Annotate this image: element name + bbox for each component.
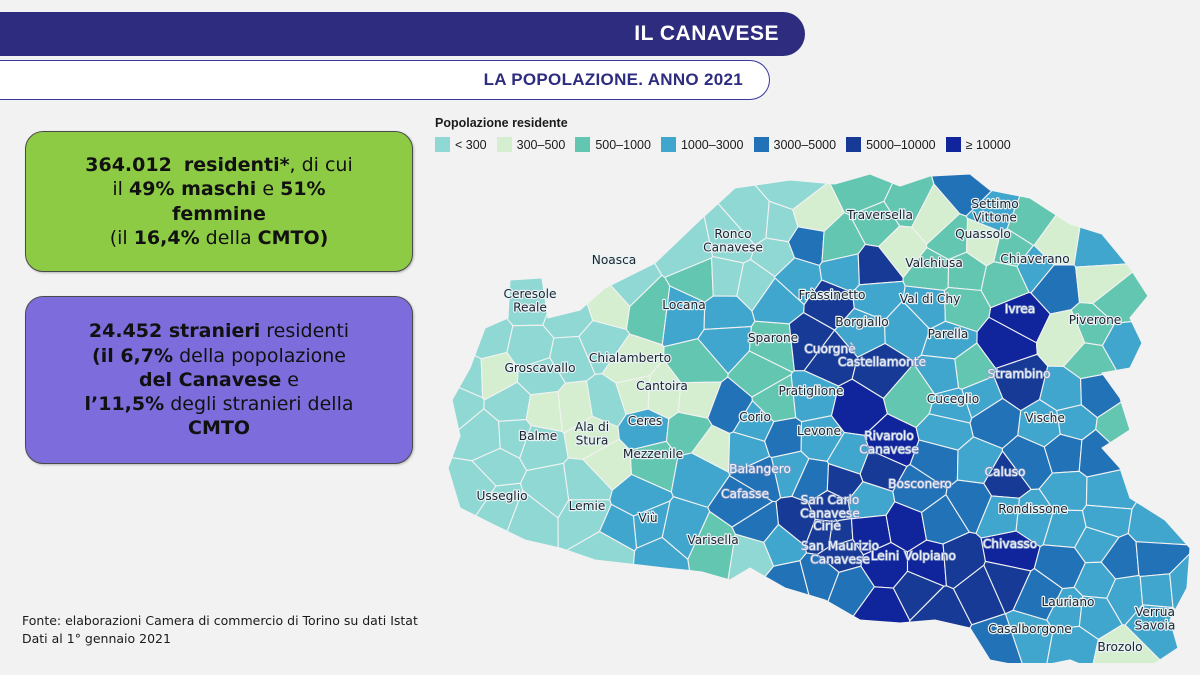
municipality-shapes — [448, 174, 1190, 663]
legend-item[interactable]: ≥ 10000 — [946, 137, 1011, 152]
legend-item[interactable]: < 300 — [435, 137, 487, 152]
legend-item[interactable]: 5000–10000 — [846, 137, 936, 152]
municipality-label: VerruaSavoia — [1135, 605, 1176, 633]
residenti-cmto: CMTO) — [258, 227, 329, 249]
header-bar: IL CANAVESE — [0, 12, 805, 56]
stranieri-line1-rest: residenti — [260, 320, 349, 342]
stranieri-cmto-pct: l’11,5% — [85, 393, 165, 415]
municipality-label: Quassolo — [955, 227, 1011, 241]
municipality-label: Fràssinetto — [799, 288, 866, 302]
municipality-label: Piverone — [1069, 313, 1122, 327]
municipality-label: Levone — [797, 424, 841, 438]
legend-swatch — [846, 137, 861, 152]
residenti-line2-mid: e — [256, 178, 280, 200]
residenti-maschi: 49% maschi — [129, 178, 256, 200]
legend-swatch — [575, 137, 590, 152]
stranieri-canavese: del Canavese — [139, 369, 281, 391]
legend-swatch — [754, 137, 769, 152]
municipality-label: Valchiusa — [905, 256, 963, 270]
municipality-label: Cantoira — [636, 379, 688, 393]
municipality-label: Parella — [928, 327, 969, 341]
legend-item[interactable]: 1000–3000 — [661, 137, 744, 152]
legend-swatch — [661, 137, 676, 152]
municipality-label: RivaroloCanavese — [859, 429, 919, 457]
residenti-number: 364.012 — [85, 154, 172, 176]
municipality-label: Castellamonte — [838, 355, 926, 369]
municipality-label: SettimoVittone — [971, 197, 1019, 225]
municipality-label: Balangero — [729, 462, 791, 476]
municipality-label: Lauriano — [1041, 595, 1094, 609]
legend-swatch — [946, 137, 961, 152]
municipality-area[interactable] — [1086, 470, 1136, 509]
municipality-area[interactable] — [1140, 574, 1173, 608]
residenti-femmine: femmine — [172, 203, 266, 225]
callout-stranieri: 24.452 stranieri residenti (il 6,7% dell… — [25, 296, 413, 464]
legend-label: ≥ 10000 — [966, 138, 1011, 152]
residenti-femmine-pct: 51% — [280, 178, 325, 200]
municipality-label: San CarloCanavese — [800, 493, 860, 521]
legend-label: 3000–5000 — [774, 138, 837, 152]
residenti-line4-prefix: (il — [110, 227, 134, 249]
municipality-label: Ciriè — [813, 519, 841, 533]
municipality-label: Viù — [638, 511, 657, 525]
municipality-label: Brozolo — [1097, 640, 1142, 654]
stranieri-line4-rest: degli stranieri della — [164, 393, 353, 415]
page-title: IL CANAVESE — [634, 22, 779, 46]
municipality-label: Borgiallo — [835, 315, 888, 329]
stranieri-cmto: CMTO — [188, 417, 250, 439]
stranieri-number: 24.452 stranieri — [89, 320, 260, 342]
municipality-label: Ceres — [628, 414, 663, 428]
source-line-1: Fonte: elaborazioni Camera di commercio … — [22, 612, 418, 630]
legend-swatch — [497, 137, 512, 152]
legend-items: < 300300–500500–10001000–30003000–500050… — [435, 137, 1135, 152]
municipality-label: Volpiano — [904, 549, 956, 563]
legend-label: < 300 — [455, 138, 487, 152]
municipality-label: Vische — [1025, 411, 1065, 425]
stranieri-pct: (il 6,7% — [92, 345, 173, 367]
municipality-label: Noasca — [592, 253, 637, 267]
municipality-label: Chivasso — [983, 537, 1037, 551]
legend-label: 300–500 — [517, 138, 566, 152]
municipality-label: Pratiglione — [779, 384, 844, 398]
municipality-label: Chiaverano — [1000, 252, 1069, 266]
municipality-label: Leini — [871, 549, 900, 563]
municipality-label: Val di Chy — [900, 292, 961, 306]
callout-residenti: 364.012 residenti*, di cui il 49% maschi… — [25, 131, 413, 272]
municipality-label: Ala diStura — [575, 420, 609, 448]
municipality-label: Strambino — [987, 367, 1050, 381]
municipality-label: Rondissone — [998, 502, 1068, 516]
subheader-title: LA POPOLAZIONE. ANNO 2021 — [484, 70, 743, 90]
municipality-label: Cafasse — [721, 487, 769, 501]
legend-swatch — [435, 137, 450, 152]
municipality-label: Varisella — [687, 533, 738, 547]
residenti-line4-mid: della — [200, 227, 258, 249]
municipality-label: Lemie — [569, 499, 606, 513]
municipality-label: San MaurizioCanavese — [801, 539, 879, 567]
legend-label: 1000–3000 — [681, 138, 744, 152]
legend-title: Popolazione residente — [435, 116, 1135, 130]
municipality-label: Ivrea — [1005, 302, 1036, 316]
choropleth-map: CeresoleRealeNoascaLocanaRoncoCanaveseGr… — [430, 168, 1195, 663]
municipality-label: Sparone — [748, 331, 798, 345]
municipality-label: Bosconero — [888, 477, 952, 491]
stranieri-line3-rest: e — [281, 369, 299, 391]
municipality-label: Casalborgone — [988, 622, 1072, 636]
municipality-label: Caluso — [985, 465, 1026, 479]
residenti-word: residenti* — [184, 154, 290, 176]
municipality-label: Chialamberto — [589, 351, 671, 365]
municipality-area[interactable] — [1074, 227, 1127, 267]
legend-label: 500–1000 — [595, 138, 651, 152]
legend-item[interactable]: 300–500 — [497, 137, 566, 152]
legend: Popolazione residente < 300300–500500–10… — [435, 116, 1135, 152]
legend-item[interactable]: 500–1000 — [575, 137, 651, 152]
source-line-2: Dati al 1° gennaio 2021 — [22, 630, 418, 648]
municipality-label: Locana — [662, 298, 705, 312]
municipality-label: Corio — [739, 410, 771, 424]
legend-label: 5000–10000 — [866, 138, 936, 152]
source-note: Fonte: elaborazioni Camera di commercio … — [22, 612, 418, 648]
legend-item[interactable]: 3000–5000 — [754, 137, 837, 152]
residenti-line2-prefix: il — [112, 178, 129, 200]
subheader-pill: LA POPOLAZIONE. ANNO 2021 — [0, 60, 770, 100]
municipality-label: Usseglio — [476, 489, 527, 503]
municipality-label: Balme — [519, 429, 558, 443]
stranieri-line2-rest: della popolazione — [173, 345, 346, 367]
municipality-label: Traversella — [846, 208, 913, 222]
municipality-label: Cuceglio — [927, 392, 979, 406]
municipality-label: Mezzenile — [623, 447, 683, 461]
residenti-line1-rest: , di cui — [290, 154, 353, 176]
residenti-cmto-pct: 16,4% — [134, 227, 200, 249]
municipality-label: Groscavallo — [504, 361, 575, 375]
municipality-label: Cuorgnè — [804, 342, 855, 356]
municipality-area[interactable] — [1128, 502, 1187, 545]
